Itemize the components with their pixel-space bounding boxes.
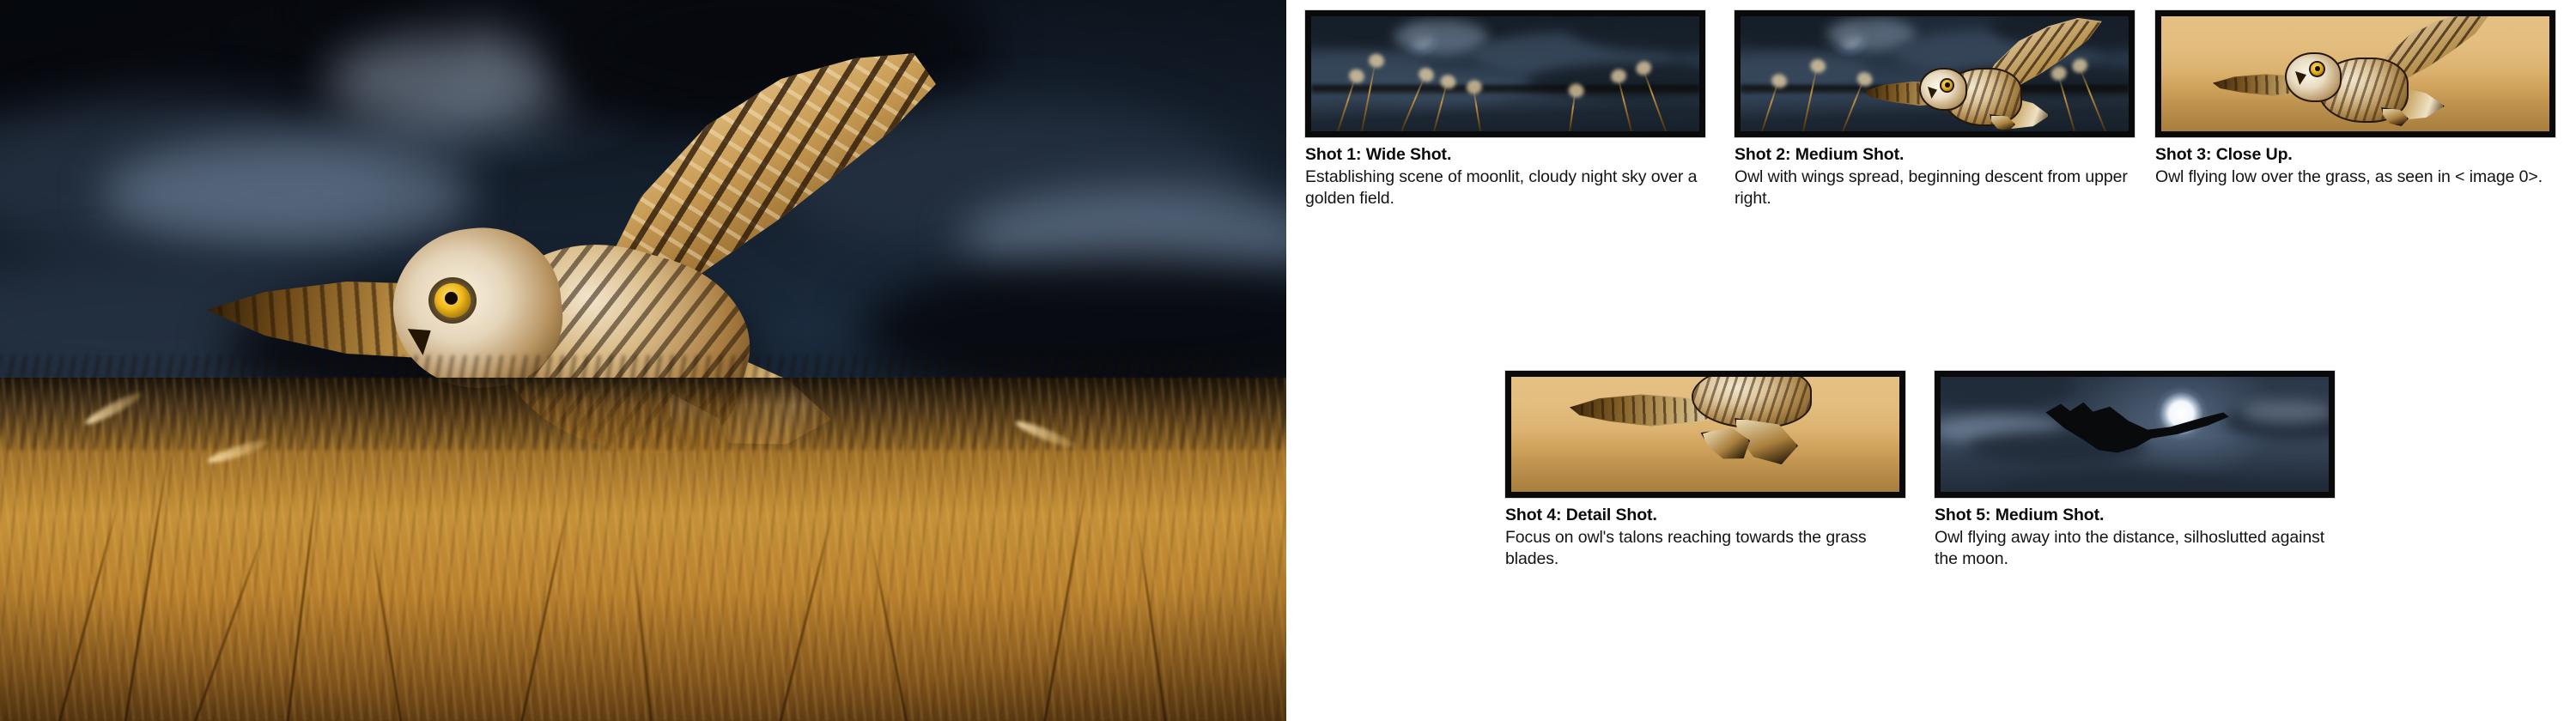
- panel-frame: [1935, 371, 2335, 498]
- panel-description: Owl flying low over the grass, as seen i…: [2155, 167, 2555, 188]
- panel-caption: Shot 2: Medium Shot. Owl with wings spre…: [1735, 144, 2135, 210]
- reference-photo: [0, 0, 1286, 721]
- owl-eye: [434, 283, 471, 318]
- storyboard-panel-shot-4[interactable]: Shot 4: Detail Shot. Focus on owl's talo…: [1505, 371, 1905, 571]
- panel-caption: Shot 3: Close Up. Owl flying low over th…: [2155, 144, 2555, 188]
- cloud-shape: [1394, 20, 1488, 54]
- storyboard-page: Shot 1: Wide Shot. Establishing scene of…: [0, 0, 2576, 721]
- panel-description: Establishing scene of moonlit, cloudy ni…: [1305, 167, 1705, 210]
- panel-frame: [1505, 371, 1905, 498]
- owl-illustration: [1869, 21, 2110, 131]
- panel-description: Owl flying away into the distance, silho…: [1935, 527, 2335, 571]
- panel-frame: [2155, 10, 2555, 137]
- panel-caption: Shot 1: Wide Shot. Establishing scene of…: [1305, 144, 1705, 210]
- panel-artwork-shot-2: [1741, 16, 2129, 131]
- panel-artwork-shot-3: [2161, 16, 2549, 131]
- panel-caption: Shot 5: Medium Shot. Owl flying away int…: [1935, 505, 2335, 571]
- panel-frame: [1305, 10, 1705, 137]
- panel-description: Focus on owl's talons reaching towards t…: [1505, 527, 1905, 571]
- owl-eye: [1941, 80, 1953, 91]
- storyboard-panel-shot-2[interactable]: Shot 2: Medium Shot. Owl with wings spre…: [1735, 10, 2135, 210]
- panel-artwork-shot-4: [1511, 377, 1899, 492]
- storyboard-panel-shot-1[interactable]: Shot 1: Wide Shot. Establishing scene of…: [1305, 10, 1705, 210]
- golden-grass-field: [0, 378, 1286, 721]
- owl-talon-detail: [1563, 377, 1863, 476]
- panel-title: Shot 4: Detail Shot.: [1505, 505, 1905, 526]
- panel-title: Shot 2: Medium Shot.: [1735, 144, 2135, 166]
- panel-title: Shot 3: Close Up.: [2155, 144, 2555, 166]
- storyboard-panel-shot-5[interactable]: Shot 5: Medium Shot. Owl flying away int…: [1935, 371, 2335, 571]
- owl-illustration: [2218, 18, 2484, 128]
- storyboard-panel-shot-3[interactable]: Shot 3: Close Up. Owl flying low over th…: [2155, 10, 2555, 188]
- panel-title: Shot 5: Medium Shot.: [1935, 505, 2335, 526]
- owl-eye: [2311, 63, 2324, 76]
- panel-title: Shot 1: Wide Shot.: [1305, 144, 1705, 166]
- panel-artwork-shot-5: [1941, 377, 2329, 492]
- owl-head: [2285, 52, 2342, 102]
- panel-description: Owl with wings spread, beginning descent…: [1735, 167, 2135, 210]
- panel-frame: [1735, 10, 2135, 137]
- cloud-shape: [2241, 401, 2329, 423]
- panel-caption: Shot 4: Detail Shot. Focus on owl's talo…: [1505, 505, 1905, 571]
- panel-artwork-shot-1: [1311, 16, 1699, 131]
- storyboard-grid: Shot 1: Wide Shot. Establishing scene of…: [1286, 0, 2576, 721]
